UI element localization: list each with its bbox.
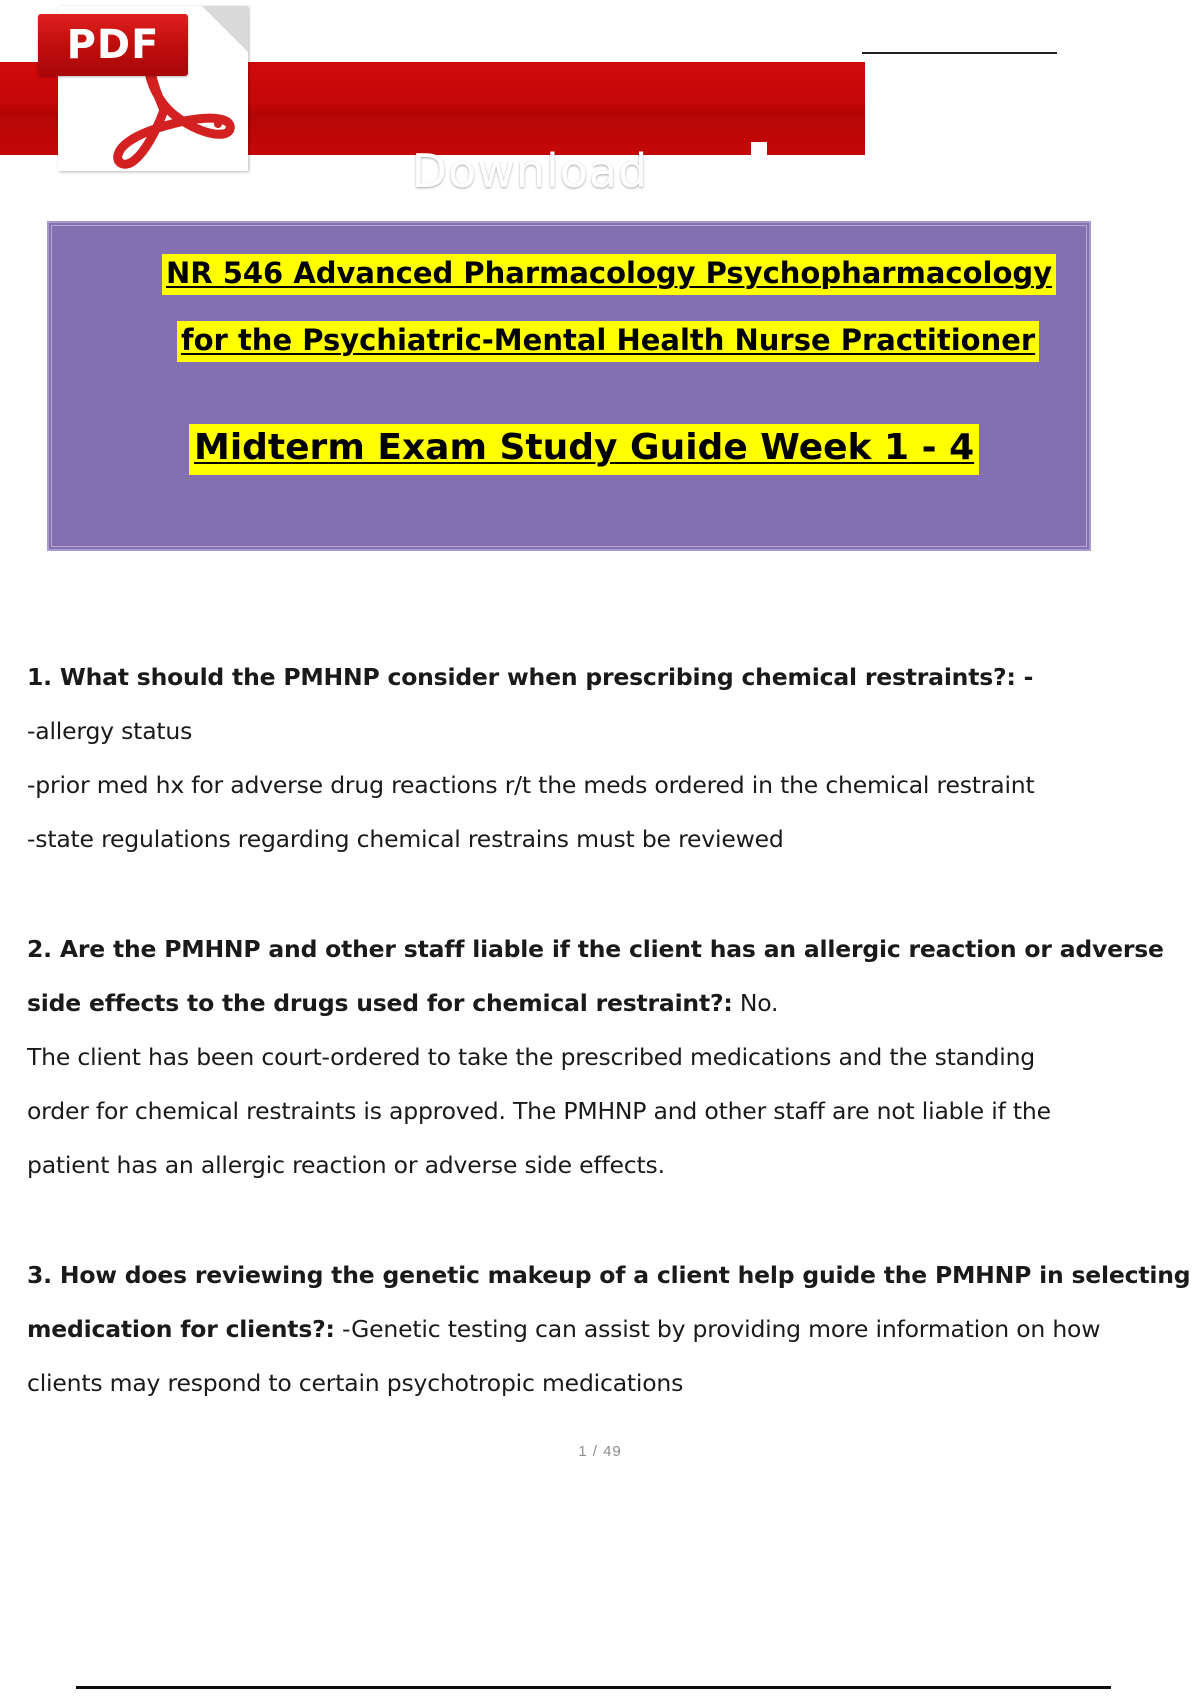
- title-line-3: Midterm Exam Study Guide Week 1 - 4: [189, 424, 979, 475]
- title-box-inner-border: NR 546 Advanced Pharmacology Psychopharm…: [51, 225, 1087, 547]
- pdf-badge-label: PDF: [67, 22, 160, 68]
- block-spacer: [27, 866, 1187, 922]
- question-1-text: 1. What should the PMHNP consider when p…: [27, 650, 1187, 704]
- answer-3-line-1: clients may respond to certain psychotro…: [27, 1356, 1187, 1410]
- answer-1-line-2: -prior med hx for adverse drug reactions…: [27, 758, 1187, 812]
- top-divider: [862, 52, 1057, 54]
- question-3-text-line-1: 3. How does reviewing the genetic makeup…: [27, 1248, 1187, 1302]
- download-button-label: Download: [330, 136, 730, 206]
- bottom-divider: [76, 1686, 1111, 1689]
- download-arrow-icon: [727, 138, 791, 202]
- answer-1-line-3: -state regulations regarding chemical re…: [27, 812, 1187, 866]
- answer-1-line-1: -allergy status: [27, 704, 1187, 758]
- pdf-badge: PDF: [38, 14, 188, 76]
- title-line-2: for the Psychiatric-Mental Health Nurse …: [177, 321, 1039, 362]
- page-indicator: 1 / 49: [0, 1443, 1200, 1460]
- block-spacer: [27, 1192, 1187, 1248]
- pdf-file-icon: PDF: [58, 6, 248, 171]
- download-banner: Download PDF: [0, 0, 1200, 180]
- question-block-2: 2. Are the PMHNP and other staff liable …: [27, 922, 1187, 1192]
- question-3-text-line-2: medication for clients?: -Genetic testin…: [27, 1302, 1187, 1356]
- question-3-answer-inline: -Genetic testing can assist by providing…: [335, 1315, 1101, 1343]
- question-2-prompt: side effects to the drugs used for chemi…: [27, 989, 733, 1017]
- question-2-answer-inline: No.: [733, 989, 779, 1017]
- question-block-1: 1. What should the PMHNP consider when p…: [27, 650, 1187, 866]
- question-block-3: 3. How does reviewing the genetic makeup…: [27, 1248, 1187, 1410]
- answer-2-line-2: order for chemical restraints is approve…: [27, 1084, 1187, 1138]
- question-2-text-line-1: 2. Are the PMHNP and other staff liable …: [27, 922, 1187, 976]
- title-line-1: NR 546 Advanced Pharmacology Psychopharm…: [162, 254, 1056, 295]
- document-body: 1. What should the PMHNP consider when p…: [27, 650, 1187, 1410]
- answer-2-line-3: patient has an allergic reaction or adve…: [27, 1138, 1187, 1192]
- question-2-text-line-2: side effects to the drugs used for chemi…: [27, 976, 1187, 1030]
- question-3-prompt: medication for clients?:: [27, 1315, 335, 1343]
- answer-2-line-1: The client has been court-ordered to tak…: [27, 1030, 1187, 1084]
- document-title-box: NR 546 Advanced Pharmacology Psychopharm…: [47, 221, 1091, 551]
